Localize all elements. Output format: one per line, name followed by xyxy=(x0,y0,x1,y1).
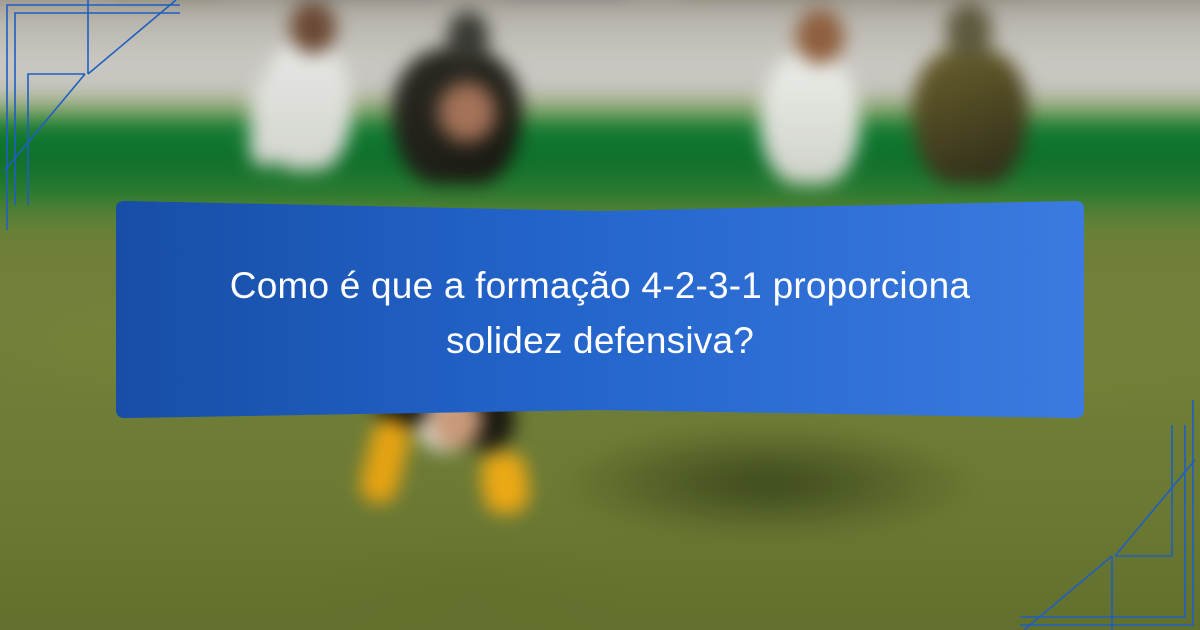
player-figure-body xyxy=(912,48,1028,184)
social-card: Como é que a formação 4-2-3-1 proporcion… xyxy=(0,0,1200,630)
player-figure-head xyxy=(796,10,844,64)
page-title: Como é que a formação 4-2-3-1 proporcion… xyxy=(205,259,995,369)
headline-banner: Como é que a formação 4-2-3-1 proporcion… xyxy=(98,198,1102,430)
player-figure-head xyxy=(946,4,992,58)
player-figure-face xyxy=(438,82,496,142)
player-figure-head xyxy=(447,12,489,62)
player-figure-body xyxy=(260,40,352,170)
player-shadow xyxy=(560,430,980,540)
player-figure-body xyxy=(760,52,860,184)
headline-container: Como é que a formação 4-2-3-1 proporcion… xyxy=(98,198,1102,430)
player-figure-head xyxy=(290,2,336,54)
